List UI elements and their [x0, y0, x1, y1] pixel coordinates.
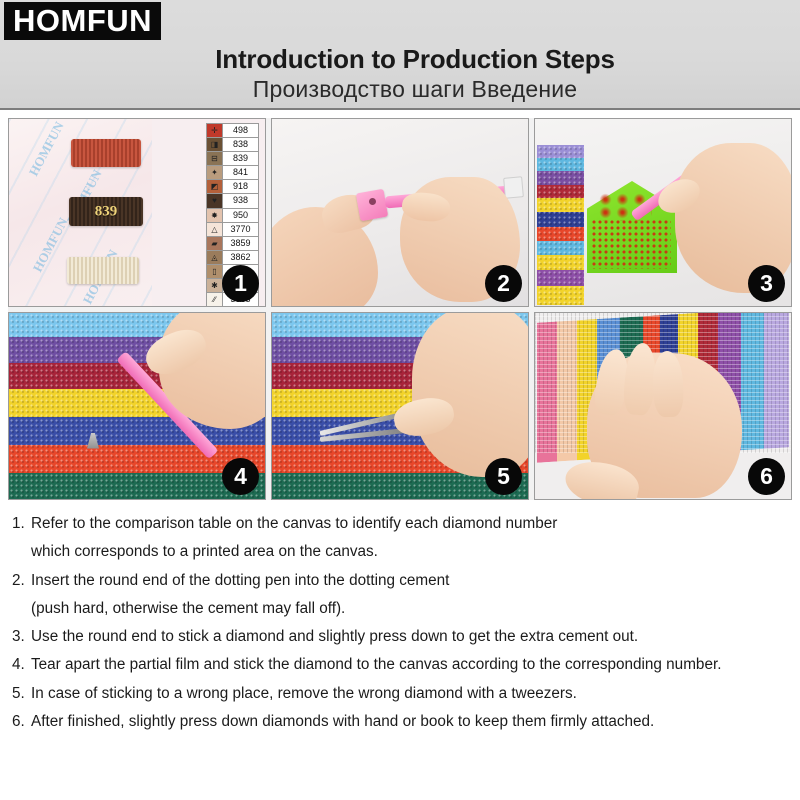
instruction-text: Refer to the comparison table on the can… [31, 516, 557, 531]
color-swatch: ⊟ [207, 152, 223, 166]
instruction-item: 6. After finished, slightly press down d… [12, 714, 788, 729]
instruction-item: 4. Tear apart the partial film and stick… [12, 657, 788, 672]
color-swatch: ◬ [207, 250, 223, 264]
instruction-continuation: which corresponds to a printed area on t… [12, 544, 788, 559]
panel-step-5: 5 [271, 312, 529, 501]
instruction-text: Use the round end to stick a diamond and… [31, 629, 638, 644]
dmc-code: 938 [223, 194, 259, 208]
dmc-code: 3859 [223, 236, 259, 250]
dmc-code: 838 [223, 138, 259, 152]
table-row: ◨838 [207, 138, 259, 152]
color-swatch: ▯ [207, 264, 223, 278]
color-swatch: △ [207, 222, 223, 236]
table-row: ♥938 [207, 194, 259, 208]
table-row: ✦841 [207, 166, 259, 180]
instruction-item: 2. Insert the round end of the dotting p… [12, 573, 788, 588]
dmc-code: 918 [223, 180, 259, 194]
tray-diamonds [591, 219, 671, 269]
striped-canvas [537, 145, 584, 305]
color-swatch: ◩ [207, 180, 223, 194]
table-row: ◩918 [207, 180, 259, 194]
diamond-packet [67, 257, 139, 284]
instruction-item: 1. Refer to the comparison table on the … [12, 516, 788, 531]
color-swatch: ∕∕ [207, 293, 223, 307]
step-badge: 2 [485, 265, 522, 302]
instruction-number: 5. [12, 686, 31, 701]
dmc-code: 3770 [223, 222, 259, 236]
dmc-code: 841 [223, 166, 259, 180]
instruction-text: In case of sticking to a wrong place, re… [31, 686, 577, 701]
step-badge: 6 [748, 458, 785, 495]
color-swatch: ✸ [207, 208, 223, 222]
dmc-code: 950 [223, 208, 259, 222]
packet-label: 839 [69, 203, 143, 220]
instruction-number: 4. [12, 657, 31, 672]
instruction-item: 3. Use the round end to stick a diamond … [12, 629, 788, 644]
color-swatch: ✦ [207, 166, 223, 180]
dmc-code: 498 [223, 124, 259, 138]
diamond-packet [71, 139, 141, 167]
instruction-number: 3. [12, 629, 31, 644]
panel-step-3: 3 [534, 118, 792, 307]
brand-logo: HOMFUN [4, 2, 161, 40]
instruction-text-cont: (push hard, otherwise the cement may fal… [31, 601, 345, 616]
color-swatch: ✛ [207, 124, 223, 138]
page-title: Introduction to Production Steps [0, 44, 800, 75]
instruction-continuation: (push hard, otherwise the cement may fal… [12, 601, 788, 616]
instruction-text: Insert the round end of the dotting pen … [31, 573, 449, 588]
page-subtitle: Производство шаги Введение [0, 76, 800, 103]
dmc-code: 839 [223, 152, 259, 166]
panel-step-4: 4 [8, 312, 266, 501]
cement-hole [369, 198, 376, 205]
table-row: ◬3862 [207, 250, 259, 264]
instructions-list: 1. Refer to the comparison table on the … [0, 508, 800, 742]
step-badge: 5 [485, 458, 522, 495]
instruction-text-cont: which corresponds to a printed area on t… [31, 544, 378, 559]
instruction-sheet: HOMFUN Introduction to Production Steps … [0, 0, 800, 800]
instruction-number: 6. [12, 714, 31, 729]
table-row: ▰3859 [207, 236, 259, 250]
steps-photo-grid: HOMFUN HOMFUN HOMFUN HOMFUN 839 ✛498 ◨83… [8, 118, 792, 500]
canvas-stripes [537, 145, 584, 305]
diamond-packet: 839 [69, 197, 143, 226]
step-badge: 3 [748, 265, 785, 302]
dotting-cement-square [356, 189, 388, 221]
table-row: ⊟839 [207, 152, 259, 166]
pen-cap [503, 176, 524, 199]
instruction-number: 2. [12, 573, 31, 588]
instruction-item: 5. In case of sticking to a wrong place,… [12, 686, 788, 701]
color-swatch: ♥ [207, 194, 223, 208]
instruction-text: After finished, slightly press down diam… [31, 714, 654, 729]
header: HOMFUN Introduction to Production Steps … [0, 0, 800, 110]
step-badge: 1 [222, 265, 259, 302]
table-row: ✸950 [207, 208, 259, 222]
panel-step-1: HOMFUN HOMFUN HOMFUN HOMFUN 839 ✛498 ◨83… [8, 118, 266, 307]
color-swatch: ◨ [207, 138, 223, 152]
step-badge: 4 [222, 458, 259, 495]
dmc-code: 3862 [223, 250, 259, 264]
panel-step-2: 2 [271, 118, 529, 307]
color-swatch: ▰ [207, 236, 223, 250]
panel-step-6: 6 [534, 312, 792, 501]
instruction-number: 1. [12, 516, 31, 531]
table-row: △3770 [207, 222, 259, 236]
right-hand [412, 312, 529, 477]
table-row: ✛498 [207, 124, 259, 138]
color-swatch: ✱ [207, 279, 223, 293]
instruction-text: Tear apart the partial film and stick th… [31, 657, 721, 672]
